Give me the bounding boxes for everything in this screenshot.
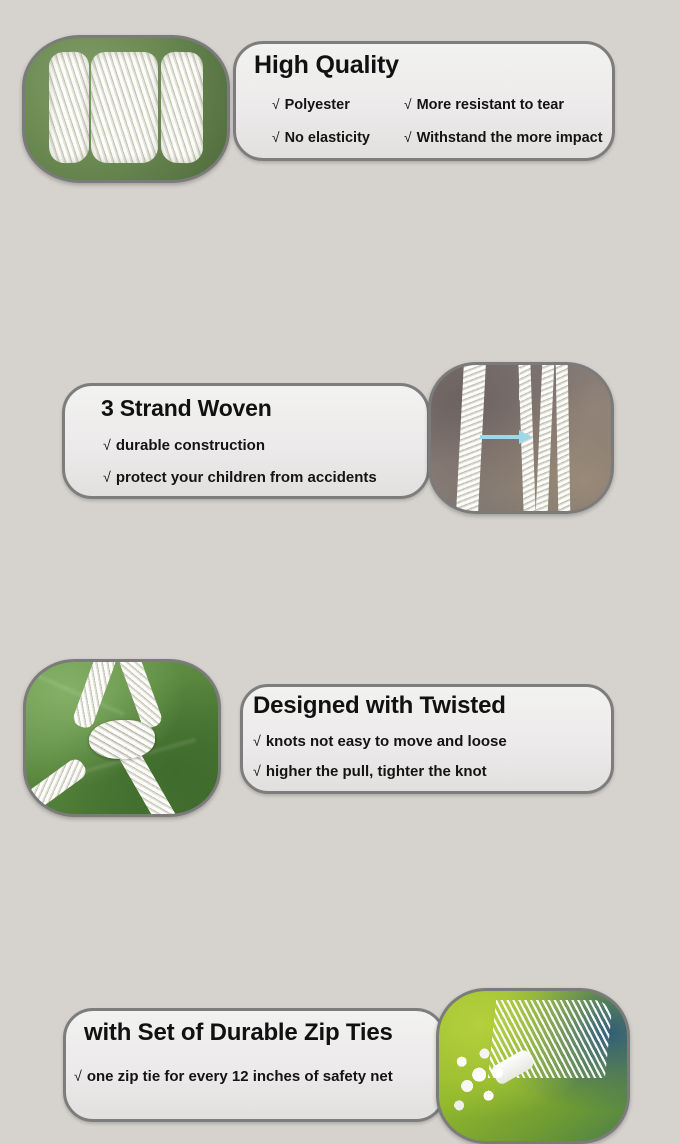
bullet-label: knots not easy to move and loose — [266, 733, 507, 750]
coil-segment-middle — [91, 52, 159, 163]
check-icon: √ — [404, 131, 412, 145]
bullet-item: √ Polyester — [272, 97, 350, 113]
panel-title-designed-with-twisted: Designed with Twisted — [253, 692, 506, 720]
feature-row-3-strand-woven: 3 Strand Woven √ durable construction √ … — [0, 180, 679, 340]
zip-ties-photo — [436, 988, 630, 1144]
feature-row-high-quality: High Quality √ Polyester √ No elasticity… — [0, 0, 679, 190]
bullet-label: Withstand the more impact — [417, 130, 603, 146]
check-icon: √ — [272, 131, 280, 145]
knot-center — [89, 720, 154, 760]
bullet-label: Polyester — [285, 97, 350, 113]
rope-coil-photo — [22, 35, 230, 183]
feature-panel-high-quality: High Quality √ Polyester √ No elasticity… — [233, 41, 615, 161]
zip-tie-heads — [447, 1039, 515, 1120]
bullet-item: √ No elasticity — [272, 130, 370, 146]
check-icon: √ — [272, 98, 280, 112]
check-icon: √ — [404, 98, 412, 112]
knot-strand-lower-left — [23, 756, 89, 817]
panel-title-high-quality: High Quality — [254, 51, 399, 80]
check-icon: √ — [253, 735, 261, 749]
bullet-item: √ higher the pull, tighter the knot — [253, 763, 487, 780]
panel-title-durable-zip-ties: with Set of Durable Zip Ties — [84, 1019, 393, 1047]
bullet-label: higher the pull, tighter the knot — [266, 763, 487, 780]
feature-panel-designed-with-twisted: Designed with Twisted √ knots not easy t… — [240, 684, 614, 794]
coil-segment-right — [161, 52, 203, 163]
bullet-item: √ Withstand the more impact — [404, 130, 603, 146]
bullet-item: √ More resistant to tear — [404, 97, 564, 113]
feature-row-durable-zip-ties: with Set of Durable Zip Ties √ one zip t… — [0, 492, 679, 657]
bullet-item: √ one zip tie for every 12 inches of saf… — [74, 1068, 393, 1085]
bullet-label: No elasticity — [285, 130, 370, 146]
rope-knot-photo — [23, 659, 221, 817]
bullet-item: √ knots not easy to move and loose — [253, 733, 507, 750]
check-icon: √ — [74, 1070, 82, 1084]
product-feature-infographic: High Quality √ Polyester √ No elasticity… — [0, 0, 679, 679]
feature-panel-durable-zip-ties: with Set of Durable Zip Ties √ one zip t… — [63, 1008, 446, 1122]
check-icon: √ — [253, 765, 261, 779]
bullet-label: one zip tie for every 12 inches of safet… — [87, 1068, 393, 1085]
coil-segment-left — [49, 52, 89, 163]
feature-row-designed-with-twisted: Designed with Twisted √ knots not easy t… — [0, 328, 679, 496]
rope-coil-illustration — [49, 52, 203, 163]
bullet-label: More resistant to tear — [417, 97, 564, 113]
